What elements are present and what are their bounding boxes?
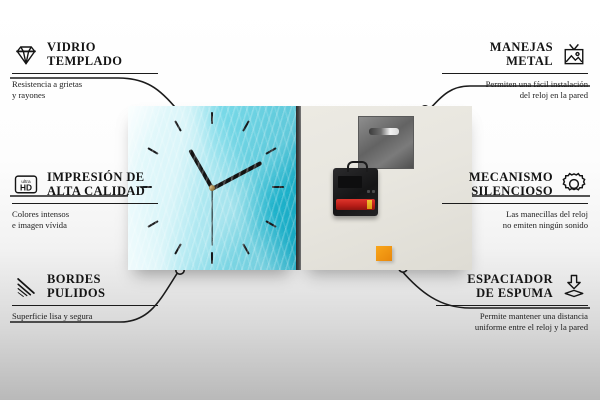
- picture-hanger-icon: [560, 40, 588, 68]
- feature-title: MECANISMO SILENCIOSO: [469, 170, 553, 198]
- feature-divider: [12, 203, 158, 204]
- feature-mecanismo-silencioso: MECANISMO SILENCIOSO Las manecillas del …: [436, 170, 588, 232]
- feature-head: VIDRIO TEMPLADO: [12, 40, 164, 68]
- feature-head: ultra HD IMPRESIÓN DE ALTA CALIDAD: [12, 170, 164, 198]
- feature-title: IMPRESIÓN DE ALTA CALIDAD: [47, 170, 145, 198]
- clock-minute-hand: [211, 160, 262, 189]
- clock-second-hand: [211, 188, 212, 246]
- svg-text:HD: HD: [20, 183, 32, 193]
- feature-title: ESPACIADOR DE ESPUMA: [467, 272, 553, 300]
- feature-head: MANEJAS METAL: [436, 40, 588, 68]
- feature-desc: Superficie lisa y segura: [12, 311, 164, 322]
- feature-head: BORDES PULIDOS: [12, 272, 164, 300]
- clock-tick: [265, 220, 276, 228]
- clock-tick: [174, 243, 182, 254]
- feature-title: BORDES PULIDOS: [47, 272, 105, 300]
- hanger-slot: [369, 128, 399, 135]
- feature-head: ESPACIADOR DE ESPUMA: [430, 272, 588, 300]
- feature-divider: [12, 305, 158, 306]
- polished-edges-icon: [12, 272, 40, 300]
- feature-desc: Las manecillas del reloj no emiten ningú…: [436, 209, 588, 232]
- hanger-plate: [358, 116, 414, 169]
- feature-manejas-metal: MANEJAS METAL Permiten una fácil instala…: [436, 40, 588, 102]
- clock-tick: [211, 112, 213, 124]
- clock-mechanism: [333, 168, 378, 216]
- clock-center-hub: [209, 185, 215, 191]
- feature-head: MECANISMO SILENCIOSO: [436, 170, 588, 198]
- clock-tick: [174, 120, 182, 131]
- feature-divider: [436, 305, 588, 306]
- clock-tick: [211, 252, 213, 264]
- mechanism-dot: [367, 190, 370, 193]
- battery: [336, 199, 375, 210]
- clock-tick: [265, 147, 276, 155]
- feature-divider: [12, 73, 158, 74]
- feature-divider: [442, 203, 588, 204]
- feature-desc: Resistencia a grietas y rayones: [12, 79, 164, 102]
- foam-spacer-icon: [560, 272, 588, 300]
- feature-espaciador-de-espuma: ESPACIADOR DE ESPUMA Permite mantener un…: [430, 272, 588, 334]
- feature-desc: Colores intensos e imagen vívida: [12, 209, 164, 232]
- feature-vidrio-templado: VIDRIO TEMPLADO Resistencia a grietas y …: [12, 40, 164, 102]
- feature-bordes-pulidos: BORDES PULIDOS Superficie lisa y segura: [12, 272, 164, 322]
- clock-tick: [242, 243, 250, 254]
- clock-tick: [242, 120, 250, 131]
- feature-divider: [442, 73, 588, 74]
- feature-title: MANEJAS METAL: [490, 40, 553, 68]
- feature-title: VIDRIO TEMPLADO: [47, 40, 122, 68]
- product-clock: [128, 106, 472, 270]
- mechanism-loop: [347, 161, 368, 172]
- mechanism-slot: [338, 176, 362, 188]
- clock-tick: [272, 186, 284, 188]
- clock-hour-hand: [188, 149, 213, 189]
- foam-spacer: [376, 246, 392, 261]
- feature-desc: Permiten una fácil instalación del reloj…: [436, 79, 588, 102]
- feature-desc: Permite mantener una distancia uniforme …: [430, 311, 588, 334]
- ultra-hd-icon: ultra HD: [12, 170, 40, 198]
- mechanism-dot: [372, 190, 375, 193]
- gear-icon: [560, 170, 588, 198]
- diamond-icon: [12, 40, 40, 68]
- feature-impresion-alta-calidad: ultra HD IMPRESIÓN DE ALTA CALIDAD Color…: [12, 170, 164, 232]
- infographic-canvas: VIDRIO TEMPLADO Resistencia a grietas y …: [0, 0, 600, 400]
- clock-tick: [147, 147, 158, 155]
